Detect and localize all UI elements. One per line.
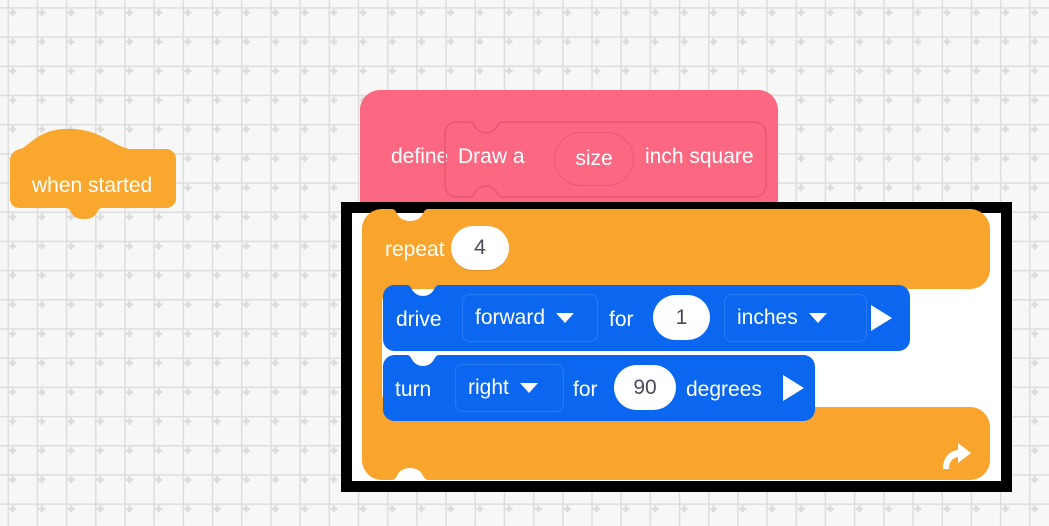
define-prototype[interactable]: Draw a size inch square bbox=[444, 121, 767, 198]
define-prototype-text-before: Draw a bbox=[458, 145, 525, 169]
play-triangle-icon[interactable] bbox=[871, 305, 892, 331]
drive-amount-value: 1 bbox=[676, 306, 688, 330]
repeat-count-value: 4 bbox=[474, 236, 486, 260]
repeat-label: repeat bbox=[385, 238, 445, 262]
chevron-down-icon bbox=[520, 383, 538, 393]
block-when-started[interactable]: when started bbox=[10, 129, 176, 220]
drive-connector-label: for bbox=[609, 308, 634, 332]
drive-label: drive bbox=[396, 308, 442, 332]
when-started-label: when started bbox=[32, 174, 152, 198]
define-parameter-label: size bbox=[575, 147, 612, 171]
chevron-down-icon bbox=[809, 313, 827, 323]
turn-units-label: degrees bbox=[686, 378, 762, 402]
turn-amount-input[interactable]: 90 bbox=[614, 365, 676, 410]
block-turn[interactable]: turn right for 90 degrees bbox=[383, 355, 815, 421]
loop-arrow-icon bbox=[938, 438, 974, 472]
turn-label: turn bbox=[395, 378, 431, 402]
turn-amount-value: 90 bbox=[633, 376, 656, 400]
define-keyword: define bbox=[391, 145, 448, 169]
drive-amount-input[interactable]: 1 bbox=[653, 295, 710, 340]
play-triangle-icon[interactable] bbox=[783, 375, 804, 401]
chevron-down-icon bbox=[556, 313, 574, 323]
turn-direction-dropdown[interactable]: right bbox=[455, 364, 564, 412]
define-parameter-size[interactable]: size bbox=[554, 132, 634, 186]
drive-units-value: inches bbox=[737, 306, 798, 330]
define-prototype-text-after: inch square bbox=[645, 145, 754, 169]
drive-direction-dropdown[interactable]: forward bbox=[462, 294, 598, 342]
drive-direction-value: forward bbox=[475, 306, 545, 330]
drive-units-dropdown[interactable]: inches bbox=[724, 294, 867, 342]
block-workspace[interactable]: when started define Draw a size inch squ… bbox=[0, 0, 1049, 526]
repeat-count-input[interactable]: 4 bbox=[451, 226, 509, 270]
turn-connector-label: for bbox=[573, 378, 598, 402]
block-drive[interactable]: drive forward for 1 inches bbox=[383, 285, 910, 351]
turn-direction-value: right bbox=[468, 376, 509, 400]
